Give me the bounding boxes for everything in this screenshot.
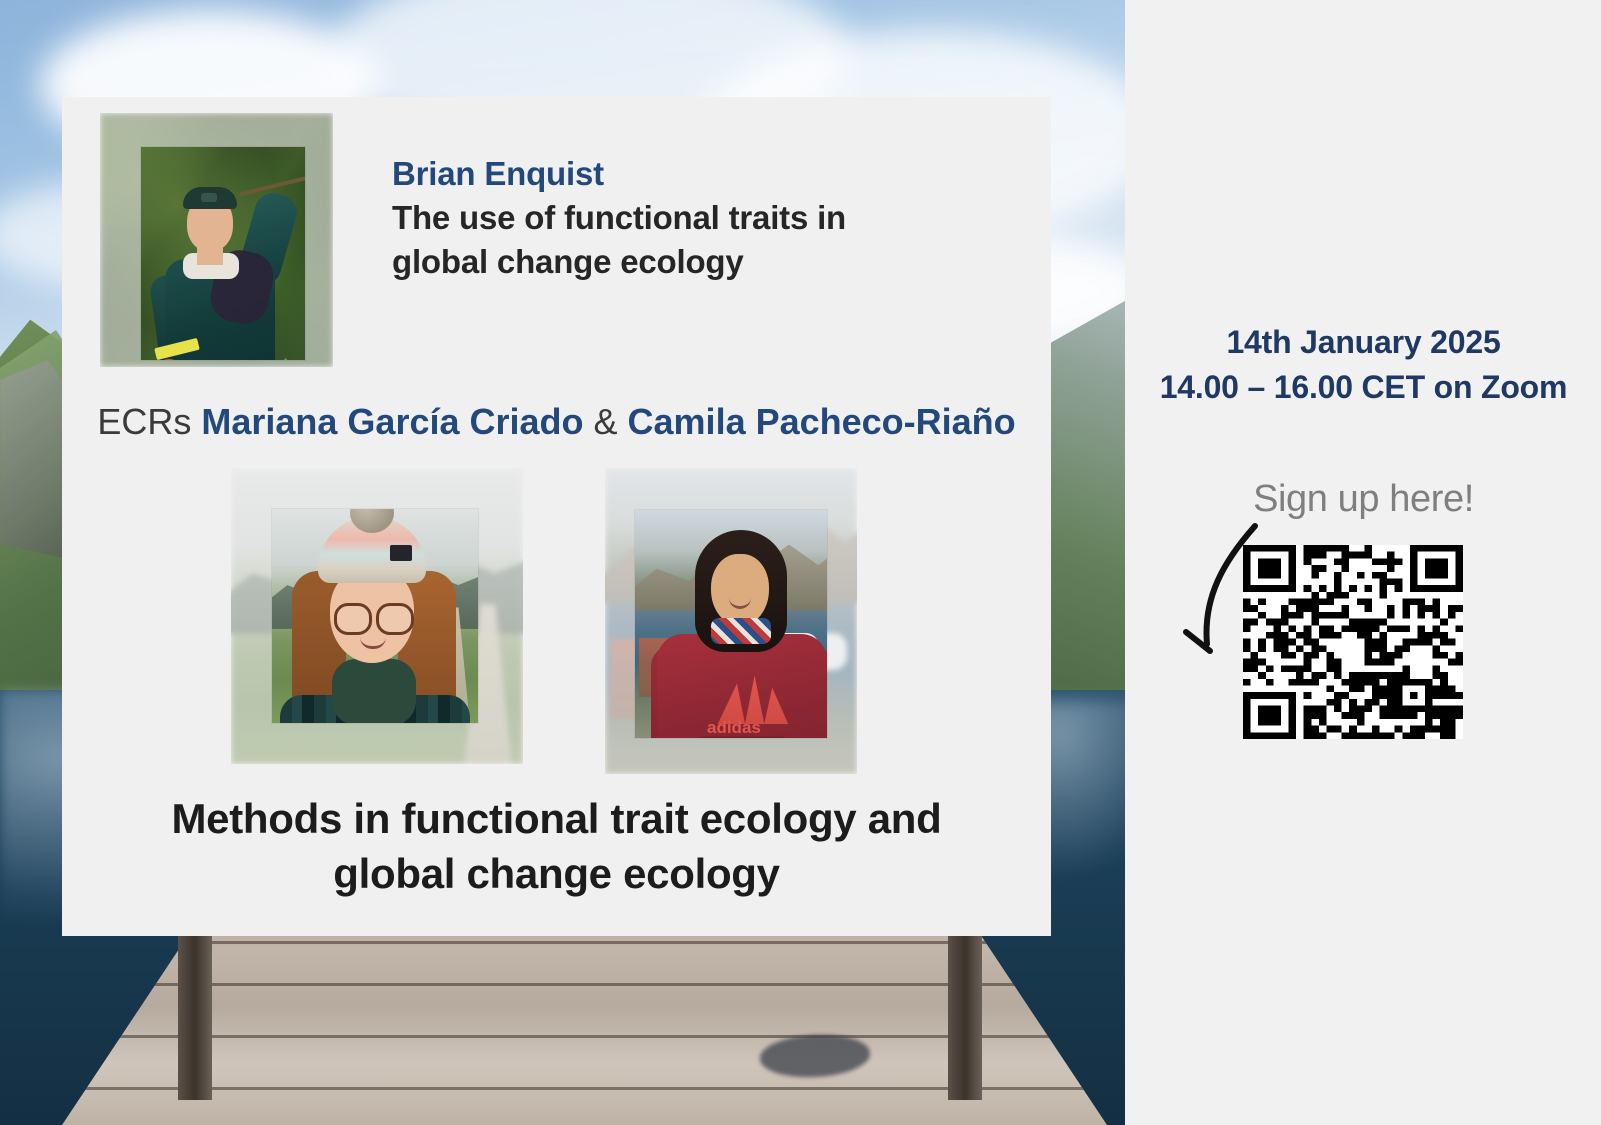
headline-line1: Methods in functional trait ecology and <box>62 792 1051 847</box>
ecr-separator: & <box>584 401 628 442</box>
speaker-photo-brian-enquist <box>100 113 333 367</box>
ecr-name-2: Camila Pacheco-Riaño <box>628 401 1016 442</box>
ecr-prefix: ECRs <box>97 401 201 442</box>
speaker-talk-title-line1: The use of functional traits in <box>392 196 1002 240</box>
event-date: 14th January 2025 <box>1126 320 1601 365</box>
ecr-photo-camila-pacheco-riano: adidas <box>605 468 857 774</box>
photo-inner: adidas <box>635 510 827 738</box>
registration-qr-code[interactable] <box>1243 545 1463 739</box>
speaker-talk-title-line2: global change ecology <box>392 240 1002 284</box>
event-datetime-block: 14th January 2025 14.00 – 16.00 CET on Z… <box>1126 320 1601 411</box>
event-time-platform: 14.00 – 16.00 CET on Zoom <box>1126 365 1601 410</box>
qr-canvas[interactable] <box>1243 545 1463 739</box>
photo-inner <box>272 509 478 723</box>
speaker-text-block: Brian Enquist The use of functional trai… <box>392 152 1002 285</box>
ecr-names-line: ECRs Mariana García Criado & Camila Pach… <box>62 402 1051 442</box>
ecr-name-1: Mariana García Criado <box>201 401 583 442</box>
ecr-photo-mariana-garcia-criado <box>231 468 523 764</box>
headline-line2: global change ecology <box>62 847 1051 902</box>
speaker-name: Brian Enquist <box>392 152 1002 196</box>
signup-label: Sign up here! <box>1126 478 1601 521</box>
photo-inner <box>141 147 305 360</box>
content-panel: Brian Enquist The use of functional trai… <box>62 97 1051 936</box>
poster-headline: Methods in functional trait ecology and … <box>62 792 1051 901</box>
